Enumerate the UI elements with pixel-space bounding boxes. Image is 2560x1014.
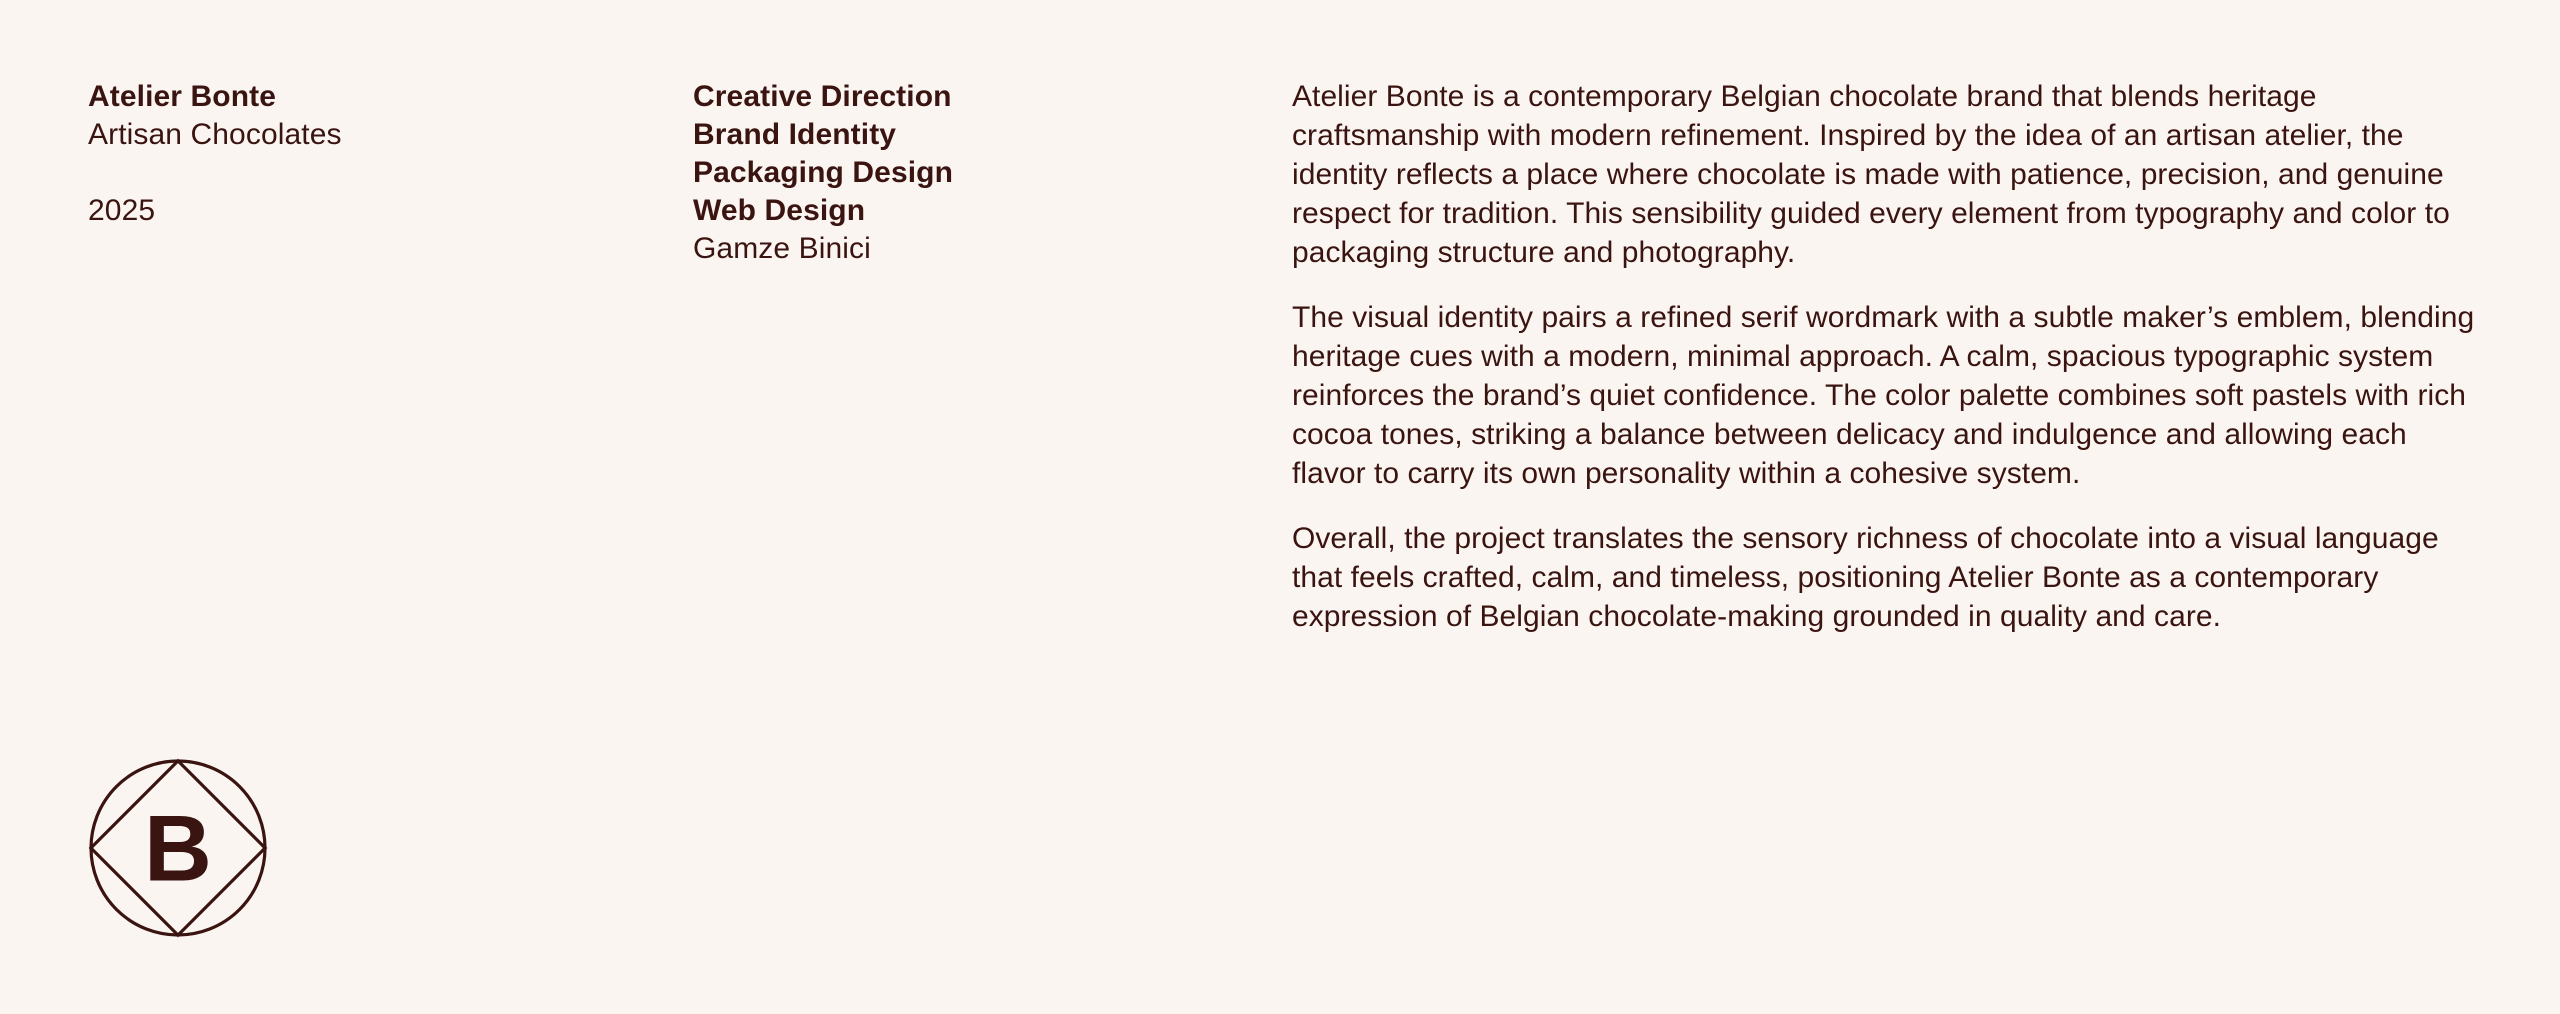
- description-paragraph: The visual identity pairs a refined seri…: [1292, 298, 2482, 493]
- service-item: Packaging Design: [693, 154, 1253, 192]
- service-item: Creative Direction: [693, 78, 1253, 116]
- project-credits-page: Atelier Bonte Artisan Chocolates 2025 B …: [0, 0, 2560, 1014]
- logo-letter: B: [144, 796, 212, 901]
- service-item: Brand Identity: [693, 116, 1253, 154]
- designer-credit: Gamze Binici: [693, 230, 1253, 268]
- description-paragraph: Overall, the project translates the sens…: [1292, 519, 2482, 636]
- project-year: 2025: [88, 192, 658, 230]
- services-column: Creative Direction Brand Identity Packag…: [693, 78, 1253, 268]
- monogram-icon: B: [88, 758, 268, 938]
- client-info-column: Atelier Bonte Artisan Chocolates 2025: [88, 78, 658, 230]
- service-item: Web Design: [693, 192, 1253, 230]
- description-paragraph: Atelier Bonte is a contemporary Belgian …: [1292, 77, 2482, 272]
- description-column: Atelier Bonte is a contemporary Belgian …: [1292, 77, 2482, 636]
- client-category: Artisan Chocolates: [88, 116, 658, 154]
- client-name: Atelier Bonte: [88, 78, 658, 116]
- brand-logo-mark: B: [88, 758, 268, 938]
